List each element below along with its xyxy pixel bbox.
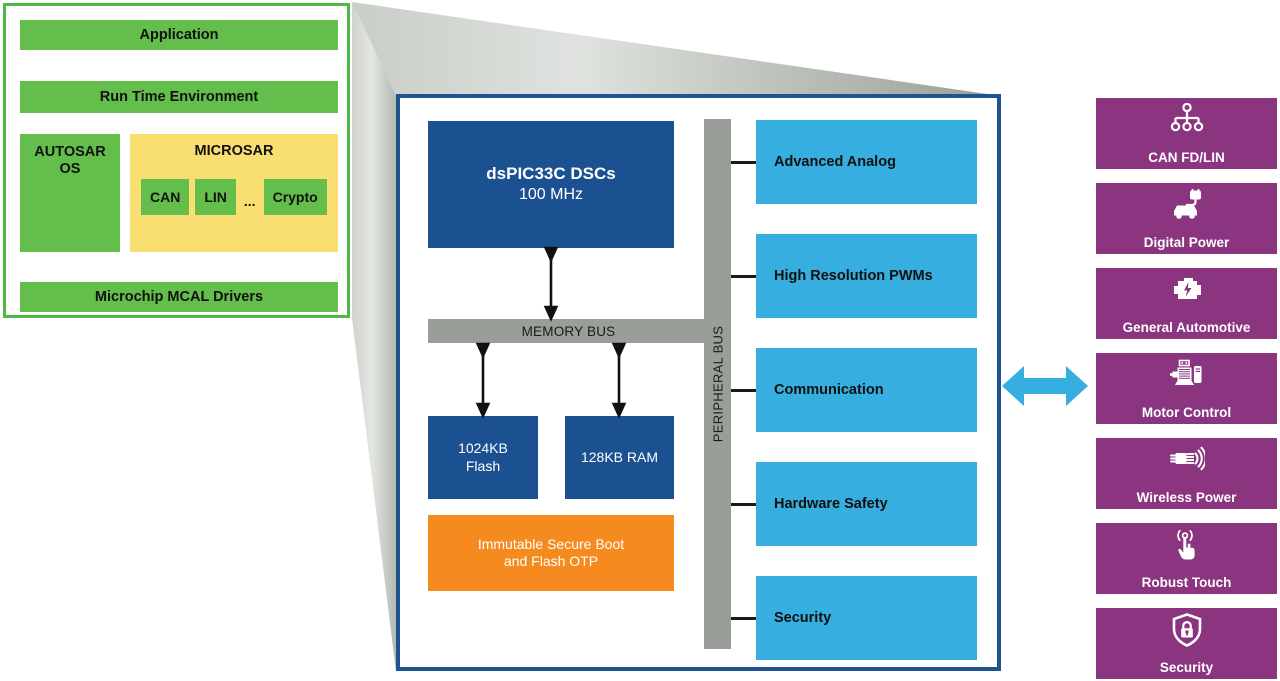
- microsar-module-row: CAN LIN ... Crypto: [141, 176, 331, 218]
- application-label: Digital Power: [1144, 236, 1230, 250]
- engine-bolt-icon: [1169, 273, 1205, 307]
- software-stack-panel: Application Run Time Environment AUTOSAR…: [3, 3, 350, 318]
- autosar-os-line-1: AUTOSAR: [34, 144, 105, 161]
- application-label: Motor Control: [1142, 406, 1231, 420]
- microsar-modules-ellipsis: ...: [242, 194, 258, 208]
- diagram-canvas: Application Run Time Environment AUTOSAR…: [0, 0, 1280, 681]
- autosar-os-line-2: OS: [60, 161, 81, 178]
- peripheral-block-hardware-safety: Hardware Safety: [756, 462, 977, 546]
- touch-hand-icon: [1169, 528, 1205, 562]
- flash-type-label: Flash: [458, 458, 508, 475]
- microsar-module-can: CAN: [141, 179, 189, 215]
- application-tile-digital-power[interactable]: Digital Power: [1096, 183, 1277, 254]
- network-tree-icon: [1169, 103, 1205, 137]
- sw-block-application: Application: [20, 20, 338, 50]
- application-tile-motor-control[interactable]: Motor Control: [1096, 353, 1277, 424]
- memory-bus: MEMORY BUS: [428, 319, 709, 343]
- application-label: Wireless Power: [1137, 491, 1237, 505]
- peripheral-connector-high-resolution-pwms: [731, 275, 756, 278]
- application-label: General Automotive: [1123, 321, 1251, 335]
- peripheral-connector-security: [731, 617, 756, 620]
- peripheral-block-communication: Communication: [756, 348, 977, 432]
- sw-block-run-time-environment: Run Time Environment: [20, 81, 338, 113]
- application-tile-security[interactable]: Security: [1096, 608, 1277, 679]
- application-tile-robust-touch[interactable]: Robust Touch: [1096, 523, 1277, 594]
- application-tile-can-fd-lin[interactable]: CAN FD/LIN: [1096, 98, 1277, 169]
- peripheral-block-security: Security: [756, 576, 977, 660]
- cpu-speed-label: 100 MHz: [519, 184, 583, 206]
- mcu-block-diagram: dsPIC33C DSCs 100 MHz PERIPHERAL BUS MEM…: [396, 94, 1001, 671]
- bidirectional-arrow: [1000, 360, 1090, 412]
- peripheral-bus: PERIPHERAL BUS: [704, 119, 731, 649]
- cpu-core-block: dsPIC33C DSCs 100 MHz: [428, 121, 674, 248]
- application-tile-general-automotive[interactable]: General Automotive: [1096, 268, 1277, 339]
- ev-plug-car-icon: [1169, 188, 1205, 222]
- flash-memory-block: 1024KB Flash: [428, 416, 538, 499]
- peripheral-connector-hardware-safety: [731, 503, 756, 506]
- sw-block-microchip-mcal-drivers: Microchip MCAL Drivers: [20, 282, 338, 312]
- ram-memory-block: 128KB RAM: [565, 416, 674, 499]
- application-tiles-column: CAN FD/LIN Digital Power: [1096, 98, 1277, 679]
- microsar-module-lin: LIN: [195, 179, 236, 215]
- peripheral-block-high-resolution-pwms: High Resolution PWMs: [756, 234, 977, 318]
- motor-drive-icon: [1169, 358, 1205, 392]
- microsar-title: MICROSAR: [130, 143, 338, 159]
- cpu-name-label: dsPIC33C DSCs: [486, 163, 615, 184]
- sw-block-microsar: MICROSAR CAN LIN ... Crypto: [130, 134, 338, 252]
- sw-block-autosar-os: AUTOSAR OS: [20, 134, 120, 252]
- secure-boot-line-2: and Flash OTP: [478, 553, 624, 571]
- peripheral-block-advanced-analog: Advanced Analog: [756, 120, 977, 204]
- wireless-coil-icon: [1169, 443, 1205, 477]
- peripheral-connector-advanced-analog: [731, 161, 756, 164]
- application-label: Robust Touch: [1142, 576, 1232, 590]
- microsar-module-crypto: Crypto: [264, 179, 327, 215]
- application-label: CAN FD/LIN: [1148, 151, 1225, 165]
- peripheral-connector-communication: [731, 389, 756, 392]
- secure-boot-block: Immutable Secure Boot and Flash OTP: [428, 515, 674, 591]
- shield-lock-icon: [1169, 613, 1205, 647]
- application-label: Security: [1160, 661, 1213, 675]
- flash-size-label: 1024KB: [458, 440, 508, 457]
- secure-boot-line-1: Immutable Secure Boot: [478, 536, 624, 554]
- application-tile-wireless-power[interactable]: Wireless Power: [1096, 438, 1277, 509]
- peripheral-bus-label: PERIPHERAL BUS: [710, 326, 725, 442]
